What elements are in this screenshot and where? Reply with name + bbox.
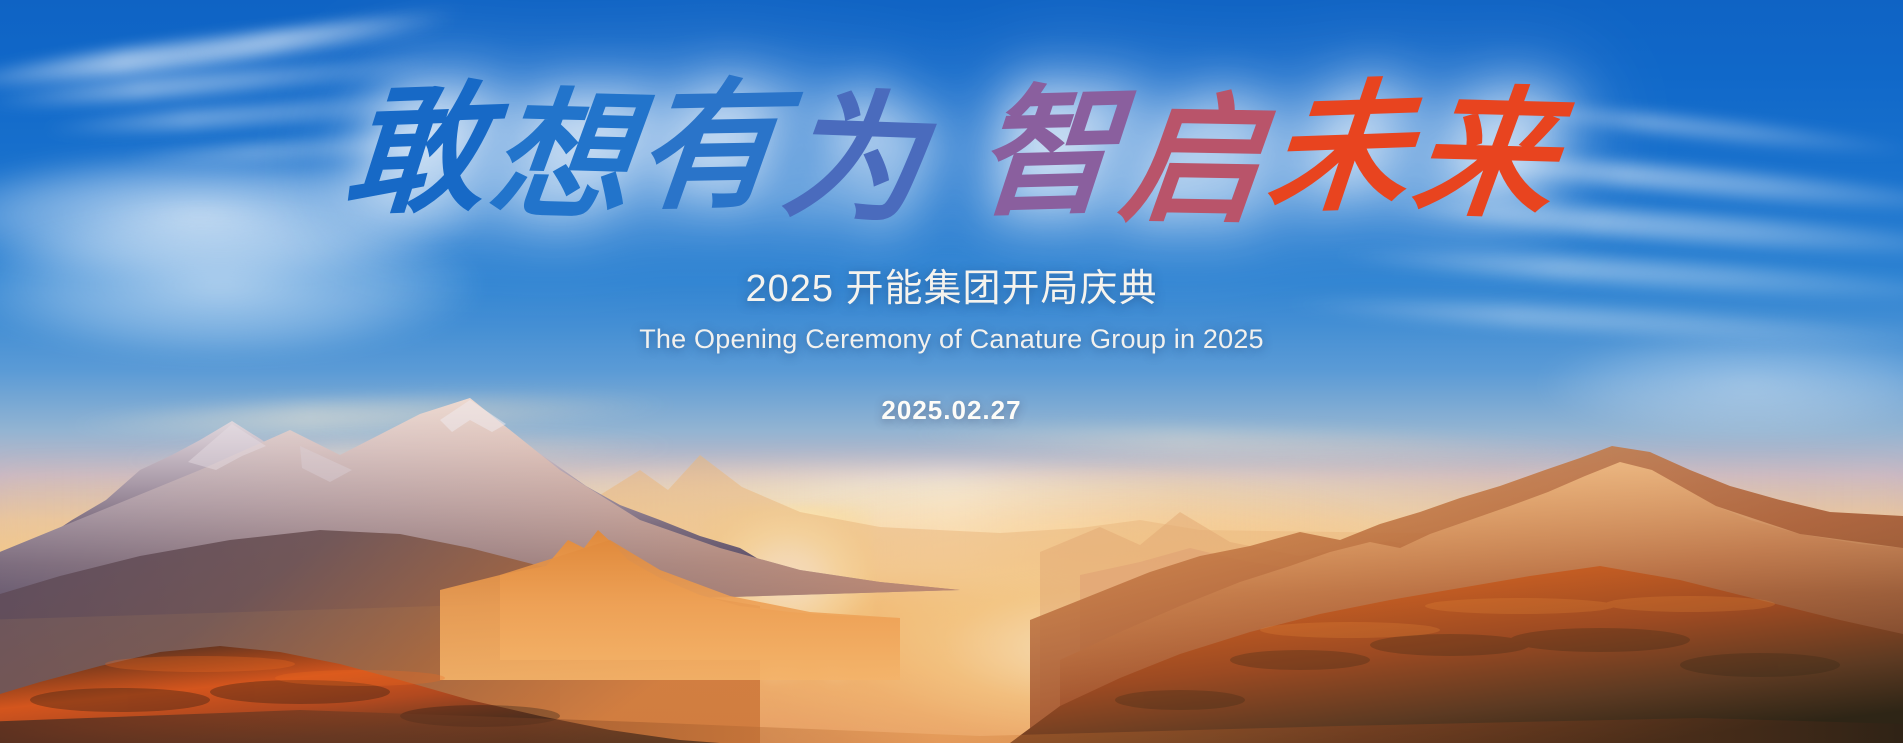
headline-char: 为 bbox=[776, 82, 933, 238]
headline-char: 未 bbox=[1262, 72, 1418, 228]
subtitle-english: The Opening Ceremony of Canature Group i… bbox=[0, 324, 1903, 355]
headline-char: 敢 bbox=[341, 74, 494, 230]
event-banner: 敢想有为智启未来 2025 开能集团开局庆典 The Opening Cerem… bbox=[0, 0, 1903, 743]
title-block: 敢想有为智启未来 2025 开能集团开局庆典 The Opening Cerem… bbox=[0, 76, 1903, 426]
headline-char: 来 bbox=[1406, 78, 1565, 233]
event-date: 2025.02.27 bbox=[0, 395, 1903, 426]
headline-char: 想 bbox=[483, 80, 642, 235]
main-headline: 敢想有为智启未来 bbox=[344, 76, 1558, 227]
headline-char: 启 bbox=[1114, 85, 1272, 239]
headline-char: 有 bbox=[631, 71, 789, 225]
subtitle-chinese: 2025 开能集团开局庆典 bbox=[0, 257, 1903, 312]
headline-char: 智 bbox=[970, 76, 1124, 231]
